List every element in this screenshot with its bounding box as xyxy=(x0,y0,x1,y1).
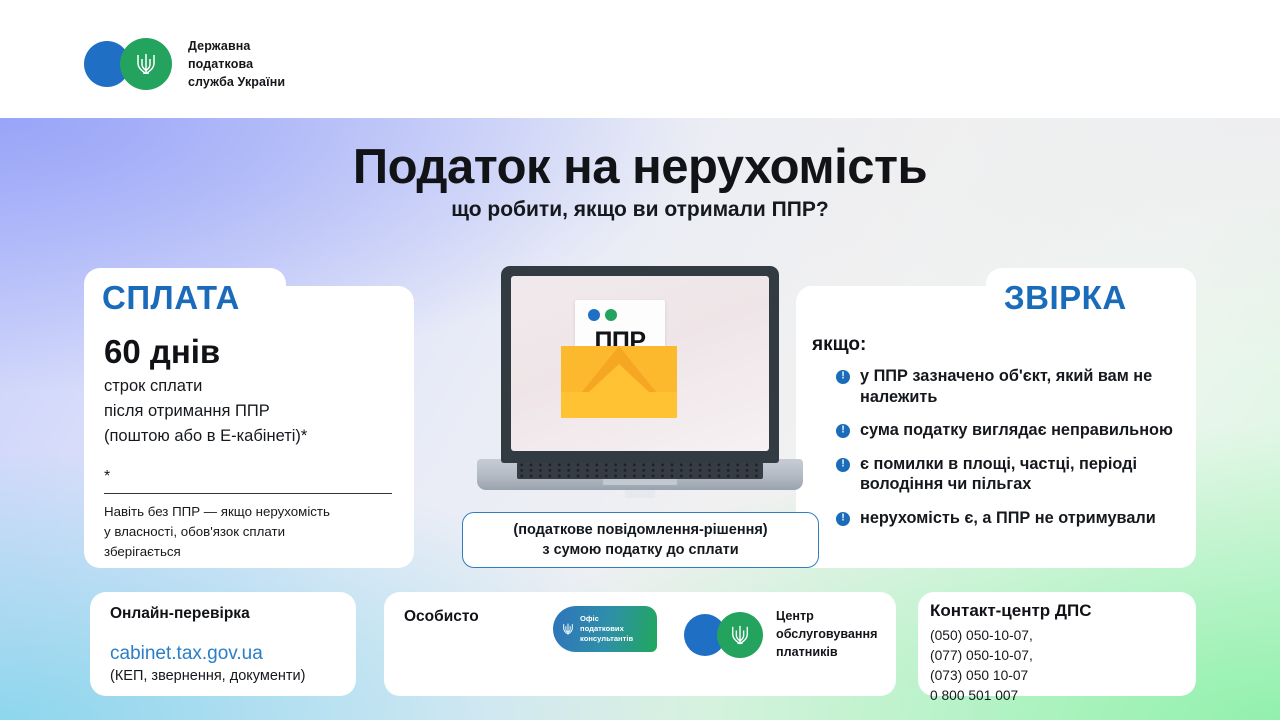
infographic-root: Державна податкова служба України Подато… xyxy=(0,0,1280,720)
info-exclamation-icon: ! xyxy=(836,370,850,384)
payment-desc-line-1: строк сплати xyxy=(104,374,404,399)
footnote-divider xyxy=(104,493,392,494)
caption-line-2: з сумою податку до сплати xyxy=(542,540,738,560)
org-line-2: податкова xyxy=(188,55,285,73)
page-title: Податок на нерухомість xyxy=(0,139,1280,195)
trident-icon xyxy=(562,622,574,636)
envelope-front-bottom xyxy=(561,392,677,418)
info-exclamation-icon: ! xyxy=(836,512,850,526)
org-line-1: Державна xyxy=(188,37,285,55)
list-item-text: сума податку виглядає неправильною xyxy=(860,420,1173,441)
ppr-caption-box: (податкове повідомлення-рішення) з сумою… xyxy=(462,512,819,568)
logo-green-circle-icon xyxy=(120,38,172,90)
reconciliation-intro: якщо: xyxy=(812,334,866,356)
badge-line-1: Офіс xyxy=(580,614,633,624)
list-item: ! сума податку виглядає неправильною xyxy=(836,420,1186,441)
badge-text: Офіс податкових консультантів xyxy=(580,614,633,644)
footnote-line-1: Навіть без ППР — якщо нерухомість xyxy=(104,502,402,522)
dps-logo: Державна податкова служба України xyxy=(84,37,285,91)
org-line-3: служба України xyxy=(188,73,285,91)
payment-desc-line-3: (поштою або в Е-кабінеті)* xyxy=(104,424,404,449)
payment-deadline-value: 60 днів xyxy=(104,333,220,371)
green-dot-icon xyxy=(605,309,617,321)
laptop-illustration: ППР xyxy=(477,266,803,498)
center-name: Центр обслуговування платників xyxy=(776,608,878,662)
header-bar: Державна податкова служба України xyxy=(0,0,1280,118)
laptop-keyboard-icon xyxy=(517,462,763,479)
center-line-1: Центр xyxy=(776,608,878,626)
list-item: ! у ППР зазначено об'єкт, який вам не на… xyxy=(836,366,1186,407)
logo-green-circle-icon xyxy=(717,612,763,658)
laptop-foot xyxy=(625,490,655,498)
list-item-text: нерухомість є, а ППР не отримували xyxy=(860,508,1156,529)
trident-icon xyxy=(135,51,157,77)
online-check-note: (КЕП, звернення, документи) xyxy=(110,668,305,684)
center-line-3: платників xyxy=(776,644,878,662)
center-line-2: обслуговування xyxy=(776,626,878,644)
blue-dot-icon xyxy=(588,309,600,321)
trident-icon xyxy=(730,623,750,647)
badge-line-2: податкових xyxy=(580,624,633,634)
reconciliation-section-heading: ЗВІРКА xyxy=(1004,279,1127,317)
online-check-title: Онлайн-перевірка xyxy=(110,605,250,623)
footnote-line-3: зберігається xyxy=(104,542,402,562)
payment-description: строк сплати після отримання ППР (поштою… xyxy=(104,374,404,449)
list-item: ! нерухомість є, а ППР не отримували xyxy=(836,508,1186,529)
caption-line-1: (податкове повідомлення-рішення) xyxy=(513,520,767,540)
list-item-text: є помилки в площі, частці, періоді волод… xyxy=(860,454,1186,495)
footnote-marker: * xyxy=(104,468,110,486)
badge-line-3: консультантів xyxy=(580,634,633,644)
info-exclamation-icon: ! xyxy=(836,458,850,472)
contact-center-title: Контакт-центр ДПС xyxy=(930,601,1092,621)
list-item: ! є помилки в площі, частці, періоді вол… xyxy=(836,454,1186,495)
taxpayer-service-center: Центр обслуговування платників xyxy=(684,608,878,662)
cabinet-link[interactable]: cabinet.tax.gov.ua xyxy=(110,643,263,665)
envelope-icon: ППР xyxy=(561,300,677,418)
page-subtitle: що робити, якщо ви отримали ППР? xyxy=(0,198,1280,222)
contact-center-phones[interactable]: (050) 050-10-07, (077) 050-10-07, (073) … xyxy=(930,626,1033,705)
payment-section-heading: СПЛАТА xyxy=(102,279,240,317)
payment-desc-line-2: після отримання ППР xyxy=(104,399,404,424)
laptop-trackpad-icon xyxy=(603,479,677,485)
tax-consultants-office-badge: Офіс податкових консультантів xyxy=(553,606,657,652)
letter-logo-dots xyxy=(588,309,617,321)
in-person-title: Особисто xyxy=(404,608,479,626)
footnote-line-2: у власності, обов'язок сплати xyxy=(104,522,402,542)
reconciliation-bullet-list: ! у ППР зазначено об'єкт, який вам не на… xyxy=(836,366,1186,541)
payment-footnote: Навіть без ППР — якщо нерухомість у влас… xyxy=(104,502,402,562)
info-exclamation-icon: ! xyxy=(836,424,850,438)
org-name: Державна податкова служба України xyxy=(188,37,285,91)
list-item-text: у ППР зазначено об'єкт, який вам не нале… xyxy=(860,366,1186,407)
